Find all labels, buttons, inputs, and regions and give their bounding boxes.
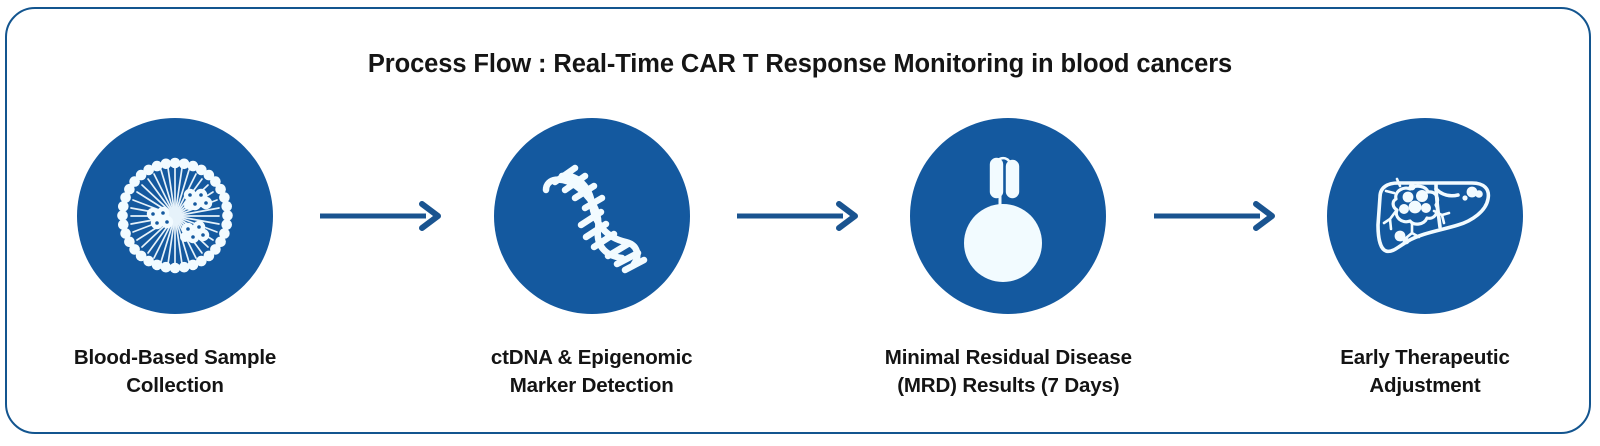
flow-step-4-label-line1: Early Therapeutic (1280, 344, 1570, 372)
flow-step-4[interactable]: Early Therapeutic Adjustment (1290, 118, 1560, 401)
dna-helix-icon (522, 146, 662, 286)
flow-step-3-icon-circle (910, 118, 1106, 314)
arrow-right-icon (318, 199, 448, 233)
flow-step-3-label-line1: Minimal Residual Disease (863, 344, 1153, 372)
infographic-canvas: Process Flow : Real-Time CAR T Response … (0, 0, 1600, 446)
flow-step-3[interactable]: Minimal Residual Disease (MRD) Results (… (873, 118, 1143, 401)
flow-connector-3 (1152, 118, 1282, 314)
flow-step-1-icon-circle (77, 118, 273, 314)
blood-cell-icon (100, 141, 250, 291)
process-flow-steps: Blood-Based Sample Collection (40, 118, 1560, 408)
page-title: Process Flow : Real-Time CAR T Response … (0, 49, 1600, 80)
flow-step-1-label: Blood-Based Sample Collection (30, 344, 320, 401)
arrow-right-icon (735, 199, 865, 233)
flow-step-1-label-line1: Blood-Based Sample (30, 344, 320, 372)
flow-step-1[interactable]: Blood-Based Sample Collection (40, 118, 310, 401)
flow-connector-2 (735, 118, 865, 314)
flow-step-2-label-line2: Marker Detection (447, 372, 737, 400)
flow-step-3-label-line2: (MRD) Results (7 Days) (863, 372, 1153, 400)
flow-step-4-label: Early Therapeutic Adjustment (1280, 344, 1570, 401)
flow-step-1-label-line2: Collection (30, 372, 320, 400)
flow-step-2[interactable]: ctDNA & Epigenomic Marker Detection (457, 118, 727, 401)
flow-step-2-label: ctDNA & Epigenomic Marker Detection (447, 344, 737, 401)
liver-tumor-icon (1350, 141, 1500, 291)
flow-step-4-icon-circle (1327, 118, 1523, 314)
flow-step-2-label-line1: ctDNA & Epigenomic (447, 344, 737, 372)
cell-probe-icon (933, 141, 1083, 291)
flow-step-4-label-line2: Adjustment (1280, 372, 1570, 400)
flow-step-3-label: Minimal Residual Disease (MRD) Results (… (863, 344, 1153, 401)
arrow-right-icon (1152, 199, 1282, 233)
flow-connector-1 (318, 118, 448, 314)
flow-step-2-icon-circle (494, 118, 690, 314)
